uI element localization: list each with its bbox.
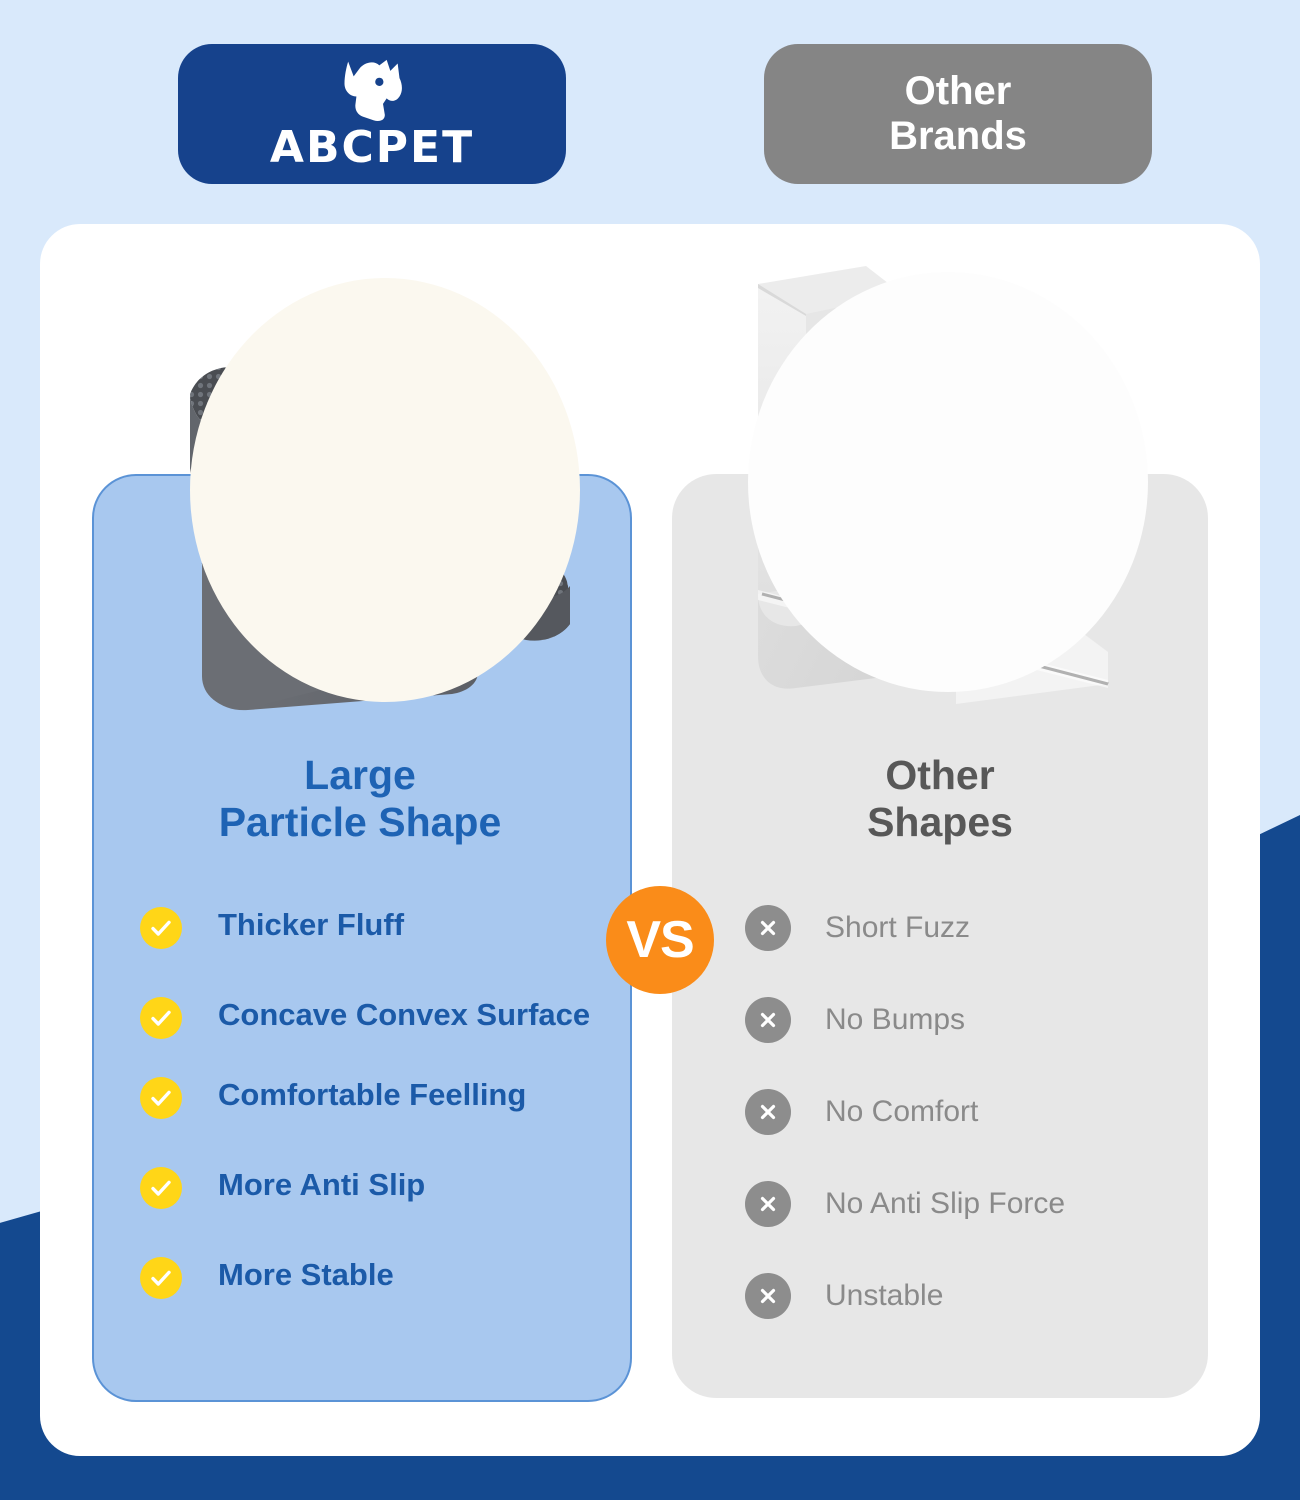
- list-item: Thicker Fluff: [140, 905, 610, 949]
- list-item: No Bumps: [745, 997, 1195, 1043]
- list-item: Comfortable Feelling: [140, 1075, 610, 1119]
- left-heading-line1: Large: [92, 752, 628, 799]
- check-icon: [140, 1167, 182, 1209]
- left-heading-line2: Particle Shape: [92, 799, 628, 846]
- list-item-label: Concave Convex Surface: [218, 997, 590, 1032]
- brand-name: ABCPET: [270, 126, 474, 170]
- right-panel-heading: Other Shapes: [672, 752, 1208, 845]
- list-item-label: Short Fuzz: [825, 911, 970, 945]
- list-item: Unstable: [745, 1273, 1195, 1319]
- list-item-label: More Anti Slip: [218, 1167, 425, 1202]
- right-heading-line2: Shapes: [672, 799, 1208, 846]
- cross-icon: [745, 1181, 791, 1227]
- check-icon: [140, 907, 182, 949]
- check-icon: [140, 1257, 182, 1299]
- cross-icon: [745, 1273, 791, 1319]
- list-item-label: No Comfort: [825, 1095, 978, 1129]
- list-item: More Anti Slip: [140, 1165, 610, 1209]
- competitor-badge: Other Brands: [764, 44, 1152, 184]
- list-item-label: Unstable: [825, 1279, 943, 1313]
- list-item-label: Thicker Fluff: [218, 907, 404, 942]
- list-item: Concave Convex Surface: [140, 995, 610, 1039]
- brand-badge: ABCPET: [178, 44, 566, 184]
- check-icon: [140, 1077, 182, 1119]
- cross-icon: [745, 905, 791, 951]
- list-item-label: No Bumps: [825, 1003, 965, 1037]
- dog-head-icon: [326, 58, 418, 124]
- competitor-label-line2: Brands: [889, 114, 1027, 159]
- list-item: Short Fuzz: [745, 905, 1195, 951]
- header-pill-row: ABCPET Other Brands: [0, 44, 1300, 184]
- list-item: No Comfort: [745, 1089, 1195, 1135]
- list-item-label: Comfortable Feelling: [218, 1077, 526, 1112]
- navy-bottom-bar-decoration: [0, 1454, 1300, 1500]
- cross-icon: [745, 1089, 791, 1135]
- left-panel-heading: Large Particle Shape: [92, 752, 628, 845]
- right-product-image: [716, 264, 1166, 704]
- check-icon: [140, 997, 182, 1039]
- left-product-image: [178, 264, 588, 716]
- list-item-label: No Anti Slip Force: [825, 1187, 1065, 1221]
- right-image-circle-backdrop: [748, 272, 1148, 692]
- vs-badge: VS: [606, 886, 714, 994]
- left-image-circle-backdrop: [190, 278, 580, 702]
- cross-icon: [745, 997, 791, 1043]
- list-item-label: More Stable: [218, 1257, 394, 1292]
- vs-label: VS: [626, 910, 693, 970]
- left-feature-list: Thicker Fluff Concave Convex Surface Com…: [140, 905, 610, 1345]
- comparison-infographic: ABCPET Other Brands: [0, 0, 1300, 1500]
- competitor-label-line1: Other: [905, 69, 1012, 114]
- list-item: No Anti Slip Force: [745, 1181, 1195, 1227]
- right-heading-line1: Other: [672, 752, 1208, 799]
- right-feature-list: Short Fuzz No Bumps No Comfort No Anti S…: [745, 905, 1195, 1365]
- list-item: More Stable: [140, 1255, 610, 1299]
